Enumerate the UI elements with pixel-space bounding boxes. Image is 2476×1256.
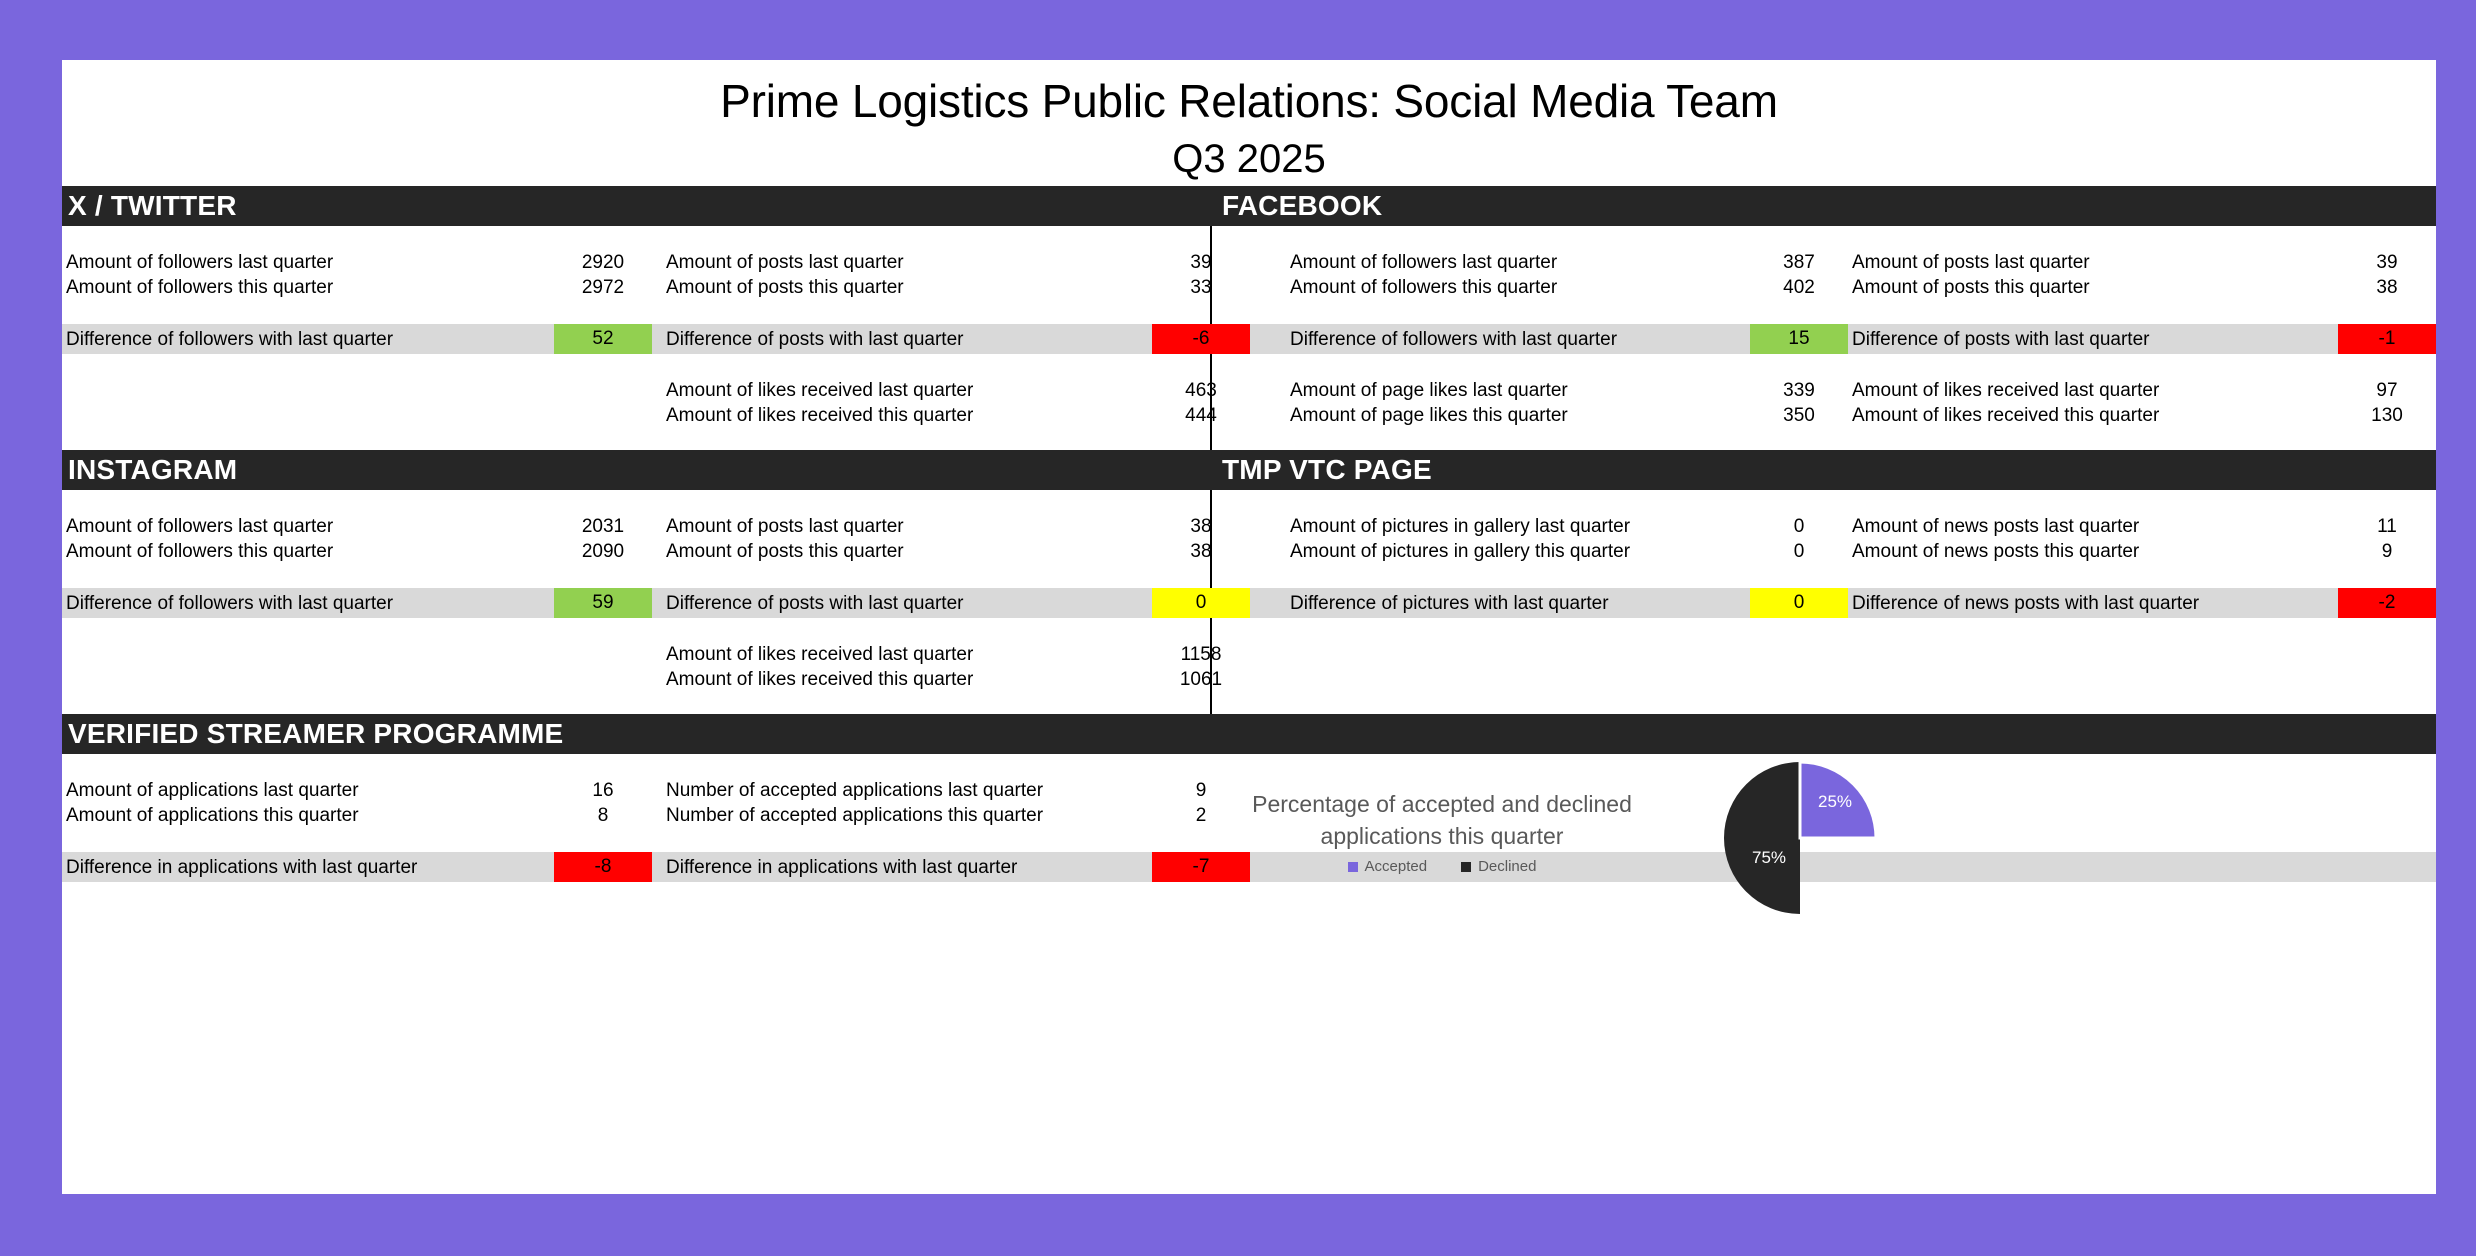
legend-item-accepted: Accepted [1348,858,1428,875]
metric-label: Number of accepted applications this qua… [666,803,1206,828]
legend-swatch-accepted [1348,862,1358,872]
difference-row: Difference of followers with last quarte… [62,324,2436,354]
status-badge: -1 [2338,324,2436,354]
metric-label: Amount of posts this quarter [666,275,1206,300]
difference-label: Difference of news posts with last quart… [1852,588,2372,618]
legend-item-declined: Declined [1461,858,1536,875]
status-badge: -8 [554,852,652,882]
table-row: Amount of likes received last quarter 11… [62,642,2436,667]
metric-label: Amount of pictures in gallery last quart… [1290,514,1770,539]
metric-value: 2031 [554,514,652,539]
difference-label: Difference of posts with last quarter [666,324,1206,354]
pie-slice-accepted [1800,762,1876,838]
report-sheet: Prime Logistics Public Relations: Social… [62,60,2436,1194]
panel-row-1: Amount of followers last quarter 2920 Am… [62,226,2436,450]
metric-value: 0 [1750,514,1848,539]
metric-value: 39 [2338,250,2436,275]
metric-value: 38 [1152,539,1250,564]
metric-label: Amount of followers last quarter [66,514,546,539]
metric-value: 444 [1152,403,1250,428]
metric-value: 350 [1750,403,1848,428]
metric-value: 1061 [1152,667,1250,692]
metric-label: Amount of likes received this quarter [666,403,1206,428]
status-badge: 52 [554,324,652,354]
metric-label: Amount of followers this quarter [1290,275,1770,300]
metric-value: 1158 [1152,642,1250,667]
difference-label: Difference in applications with last qua… [666,852,1206,882]
table-row: Amount of likes received this quarter 10… [62,667,2436,692]
chart-title: Percentage of accepted and declined appl… [1182,788,1702,852]
metric-value: 9 [2338,539,2436,564]
metric-value: 0 [1750,539,1848,564]
difference-label: Difference of followers with last quarte… [1290,324,1770,354]
table-row: Amount of followers this quarter 2972 Am… [62,275,2436,300]
metric-label: Amount of likes received last quarter [666,642,1206,667]
status-badge: 0 [1750,588,1848,618]
metric-label: Amount of posts this quarter [666,539,1206,564]
metric-value: 38 [1152,514,1250,539]
metric-label: Number of accepted applications last qua… [666,778,1206,803]
legend-label-declined: Declined [1478,858,1536,875]
status-badge: 15 [1750,324,1848,354]
pie-graphic: 25% 75% [1722,760,1878,916]
section-header-row-1: X / TWITTER FACEBOOK [62,186,2436,226]
metric-value: 33 [1152,275,1250,300]
metric-label: Amount of likes received last quarter [666,378,1206,403]
metric-value: 463 [1152,378,1250,403]
difference-label: Difference in applications with last qua… [66,852,546,882]
table-row: Amount of followers last quarter 2031 Am… [62,514,2436,539]
legend-swatch-declined [1461,862,1471,872]
chart-title-line-1: Percentage of accepted and declined [1182,788,1702,820]
section-header-row-2: INSTAGRAM TMP VTC PAGE [62,450,2436,490]
metric-value: 8 [554,803,652,828]
metric-label: Amount of pictures in gallery this quart… [1290,539,1770,564]
metric-label: Amount of likes received this quarter [1852,403,2372,428]
chart-legend: Accepted Declined [1182,858,1702,875]
table-row: Amount of likes received this quarter 44… [62,403,2436,428]
metric-label: Amount of posts last quarter [1852,250,2372,275]
metric-label: Amount of news posts this quarter [1852,539,2372,564]
metric-label: Amount of applications this quarter [66,803,546,828]
metric-value: 402 [1750,275,1848,300]
difference-row: Difference of followers with last quarte… [62,588,2436,618]
status-badge: -6 [1152,324,1250,354]
section-heading-tmpvtc: TMP VTC PAGE [1222,450,1432,490]
metric-value: 2090 [554,539,652,564]
spacer-row [62,300,2436,324]
chart-title-line-2: applications this quarter [1182,820,1702,852]
page-subtitle: Q3 2025 [62,132,2436,186]
panel-row-3: Amount of applications last quarter 16 N… [62,754,2436,914]
metric-label: Amount of news posts last quarter [1852,514,2372,539]
metric-label: Amount of followers this quarter [66,275,546,300]
section-heading-facebook: FACEBOOK [1222,186,1382,226]
metric-value: 130 [2338,403,2436,428]
spacer-row [62,618,2436,642]
spacer-row [62,692,2436,716]
metric-label: Amount of posts last quarter [666,514,1206,539]
section-header-row-3: VERIFIED STREAMER PROGRAMME [62,714,2436,754]
metric-label: Amount of likes received last quarter [1852,378,2372,403]
status-badge: 59 [554,588,652,618]
table-row: Amount of likes received last quarter 46… [62,378,2436,403]
metric-value: 2920 [554,250,652,275]
spacer-row [62,226,2436,250]
table-row: Amount of followers last quarter 2920 Am… [62,250,2436,275]
pie-svg [1722,760,1878,916]
metric-label: Amount of followers last quarter [66,250,546,275]
metric-value: 38 [2338,275,2436,300]
difference-label: Difference of pictures with last quarter [1290,588,1770,618]
status-badge: -2 [2338,588,2436,618]
metric-value: 97 [2338,378,2436,403]
page-title: Prime Logistics Public Relations: Social… [62,70,2436,132]
metric-value: 39 [1152,250,1250,275]
difference-label: Difference of posts with last quarter [1852,324,2372,354]
report-title-block: Prime Logistics Public Relations: Social… [62,60,2436,186]
pie-chart: Percentage of accepted and declined appl… [1182,760,1982,940]
spacer-row [62,564,2436,588]
metric-label: Amount of page likes this quarter [1290,403,1770,428]
spacer-row [62,428,2436,452]
status-badge: 0 [1152,588,1250,618]
difference-label: Difference of followers with last quarte… [66,324,546,354]
panel-row-2: Amount of followers last quarter 2031 Am… [62,490,2436,714]
section-heading-streamer: VERIFIED STREAMER PROGRAMME [68,714,563,754]
metric-label: Amount of posts this quarter [1852,275,2372,300]
difference-label: Difference of posts with last quarter [666,588,1206,618]
spacer-row [62,490,2436,514]
section-heading-twitter: X / TWITTER [68,186,237,226]
metric-label: Amount of page likes last quarter [1290,378,1770,403]
metric-label: Amount of likes received this quarter [666,667,1206,692]
spacer-row [62,354,2436,378]
metric-value: 387 [1750,250,1848,275]
legend-label-accepted: Accepted [1365,858,1428,875]
metric-label: Amount of followers last quarter [1290,250,1770,275]
metric-label: Amount of posts last quarter [666,250,1206,275]
metric-value: 11 [2338,514,2436,539]
metric-value: 339 [1750,378,1848,403]
metric-value: 16 [554,778,652,803]
table-row: Amount of followers this quarter 2090 Am… [62,539,2436,564]
difference-label: Difference of followers with last quarte… [66,588,546,618]
metric-label: Amount of followers this quarter [66,539,546,564]
metric-value: 2972 [554,275,652,300]
metric-label: Amount of applications last quarter [66,778,546,803]
section-heading-instagram: INSTAGRAM [68,450,237,490]
